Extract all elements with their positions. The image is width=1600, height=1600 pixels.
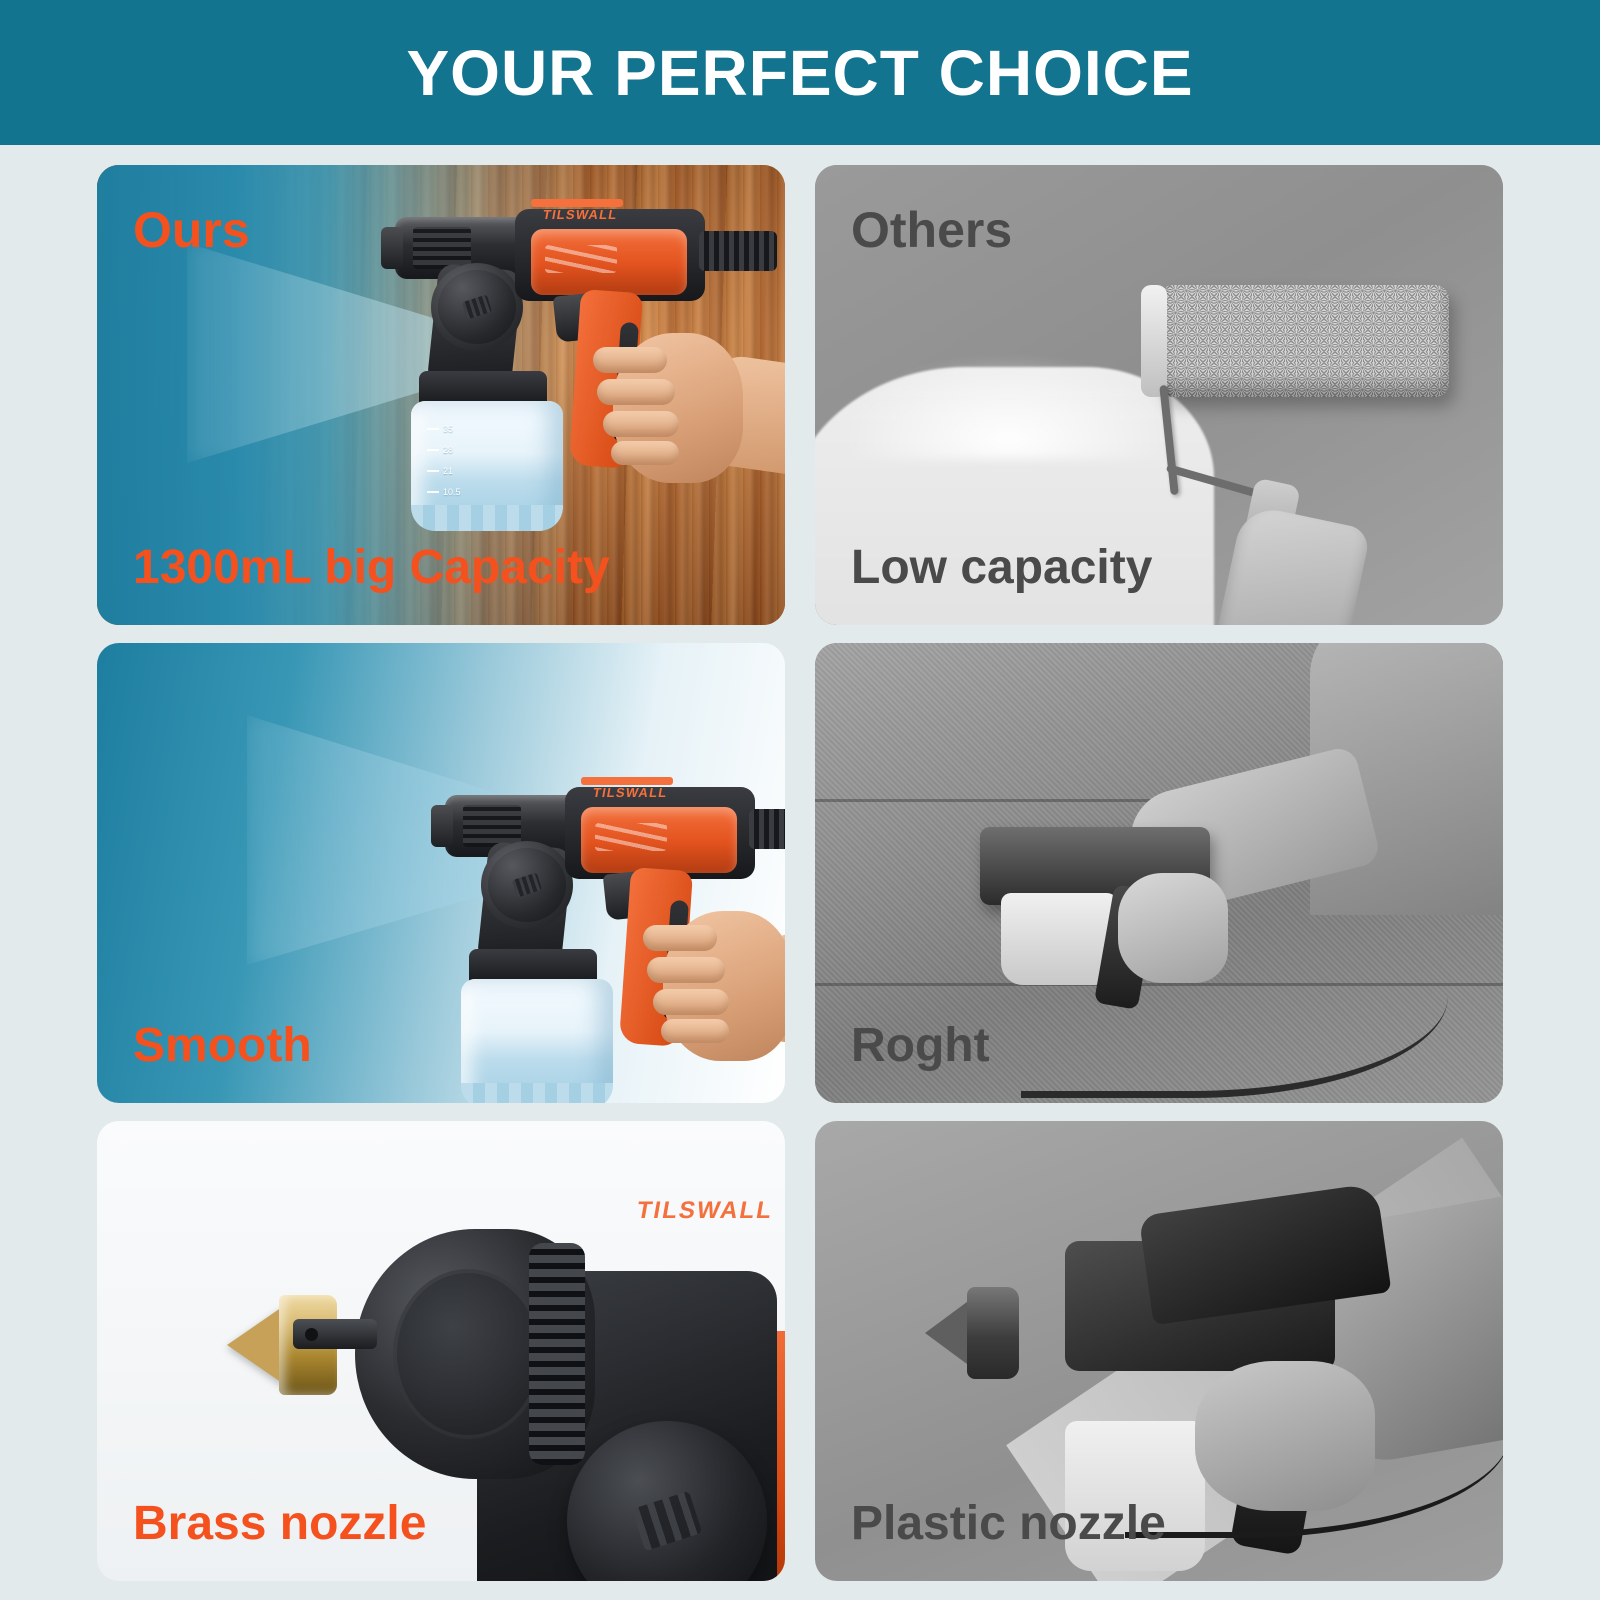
page-title: YOUR PERFECT CHOICE <box>406 36 1193 110</box>
finger-2 <box>597 379 675 405</box>
nozzle-release-tab <box>293 1319 377 1349</box>
paint-cup: 35 28 21 10.5 <box>411 401 563 531</box>
panel-ours-capacity[interactable]: 35 28 21 10.5 TILSWALL Ours 1300mL <box>97 165 785 625</box>
cup-mark-1: 28 <box>427 440 485 461</box>
gun-adjust-knob-icon <box>431 263 523 351</box>
gun-hose <box>749 809 785 849</box>
gun-orange-shell <box>531 229 687 295</box>
finger-2 <box>647 957 725 983</box>
panel-label-ours: Ours <box>133 201 250 259</box>
panel-ours-brass-nozzle[interactable]: TILSWALL Brass nozzle <box>97 1121 785 1581</box>
plastic-nozzle-cone <box>925 1299 971 1367</box>
panel-caption-rough: Roght <box>851 1018 990 1073</box>
gun-vents <box>595 823 667 851</box>
painted-edge-blend <box>843 358 1173 459</box>
finger-3 <box>653 989 729 1015</box>
gun-logo-strip <box>581 777 673 785</box>
spray-gun-illustration: 35 28 21 10.5 TILSWALL <box>347 195 785 555</box>
gun-adjust-knob-icon <box>481 841 573 929</box>
nozzle-housing <box>355 1229 595 1479</box>
panel-caption-smooth: Smooth <box>133 1018 312 1073</box>
finger-4 <box>611 441 679 465</box>
panel-label-others: Others <box>851 201 1012 259</box>
finger-1 <box>643 925 717 951</box>
comparison-grid: 35 28 21 10.5 TILSWALL Ours 1300mL <box>97 165 1503 1565</box>
panel-others-capacity[interactable]: Others Low capacity <box>815 165 1503 625</box>
nozzle-ribbed-ring <box>529 1243 585 1465</box>
cup-mark-3: 10.5 <box>427 482 485 503</box>
panel-caption-brass-nozzle: Brass nozzle <box>133 1496 426 1551</box>
brand-logo: TILSWALL <box>592 785 669 800</box>
panel-caption-capacity: 1300mL big Capacity <box>133 540 610 595</box>
spray-gun-illustration: TILSWALL <box>397 773 785 1103</box>
roller-end-cap <box>1141 285 1167 397</box>
paint-cup <box>461 979 613 1103</box>
gun-logo-strip <box>531 199 623 207</box>
panel-caption-plastic-nozzle: Plastic nozzle <box>851 1496 1166 1551</box>
plastic-nozzle-body <box>967 1287 1019 1379</box>
brand-logo: TILSWALL <box>635 1197 776 1225</box>
panel-ours-smooth[interactable]: TILSWALL Smooth <box>97 643 785 1103</box>
brand-logo: TILSWALL <box>542 207 619 222</box>
finger-3 <box>603 411 679 437</box>
gun-orange-shell <box>581 807 737 873</box>
brass-nozzle-cone <box>227 1305 285 1385</box>
nozzle-face-plate <box>393 1269 543 1439</box>
gun-barrel-fins <box>413 227 471 269</box>
gun-hose <box>699 231 777 271</box>
cup-mark-2: 21 <box>427 461 485 482</box>
panel-others-plastic-nozzle[interactable]: Plastic nozzle <box>815 1121 1503 1581</box>
finger-4 <box>661 1019 729 1043</box>
paint-roller-icon <box>1159 285 1449 397</box>
finger-1 <box>593 347 667 373</box>
panel-others-rough[interactable]: Roght <box>815 643 1503 1103</box>
power-cord <box>1125 1388 1503 1538</box>
panel-caption-low-capacity: Low capacity <box>851 540 1152 595</box>
cup-scale-markings: 35 28 21 10.5 <box>427 419 485 505</box>
cup-mark-0: 35 <box>427 419 485 440</box>
header-banner: YOUR PERFECT CHOICE <box>0 0 1600 145</box>
gun-barrel-fins <box>463 805 521 847</box>
gun-vents <box>545 245 617 273</box>
plastic-nozzle-icon <box>925 1281 1037 1385</box>
